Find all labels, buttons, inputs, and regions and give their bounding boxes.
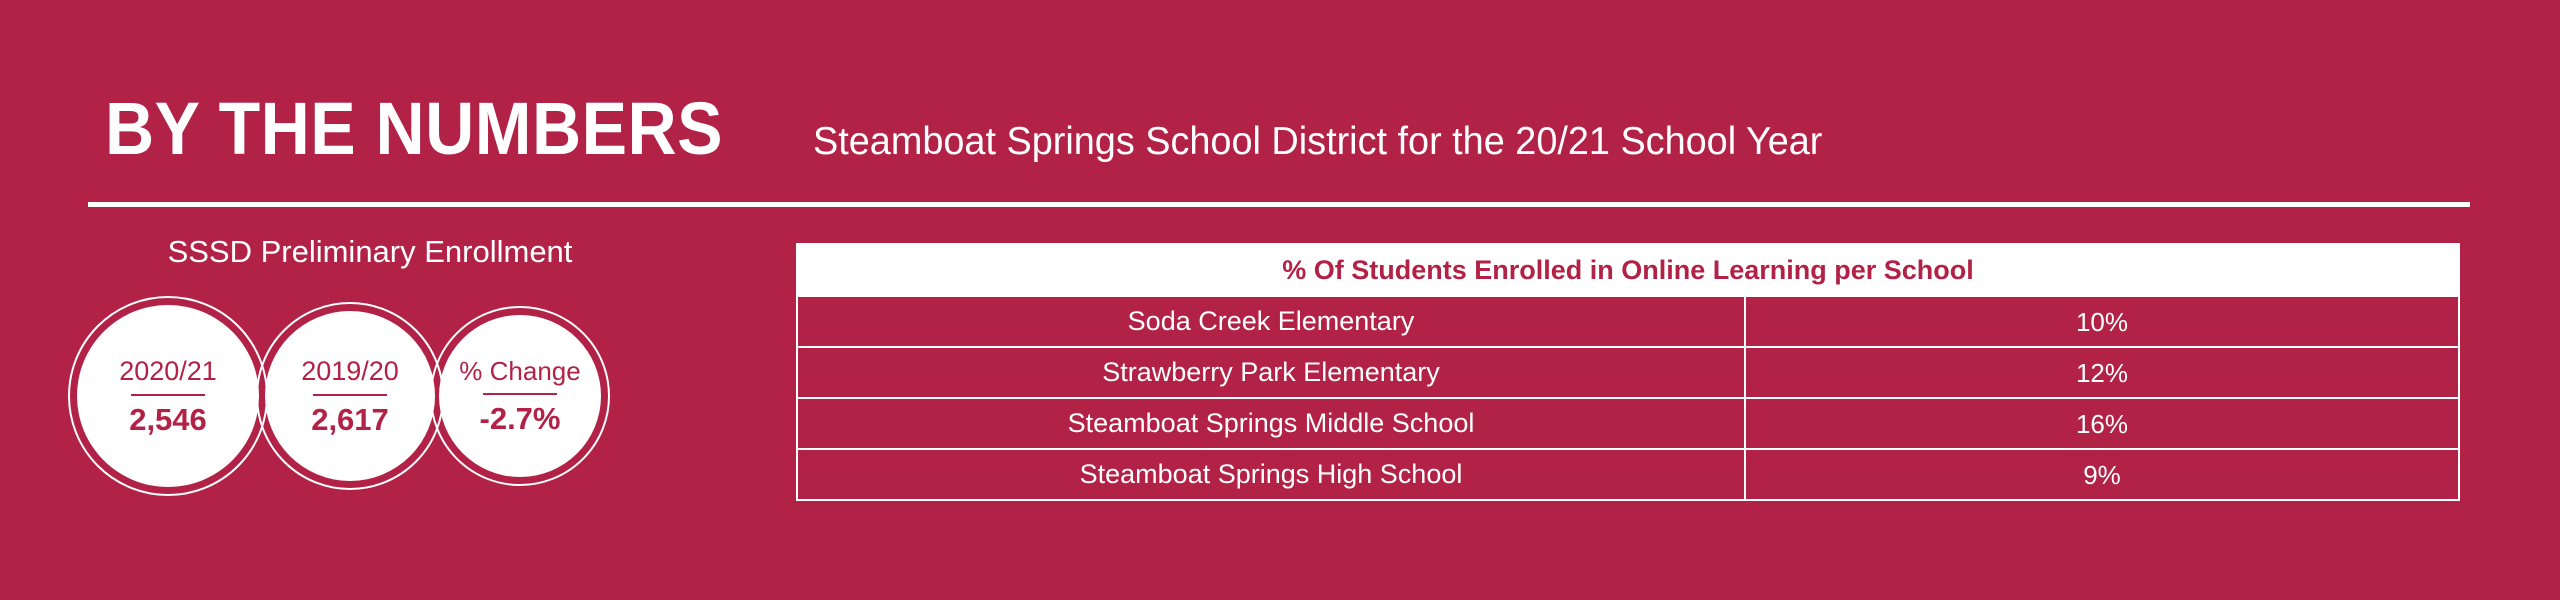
- table-row: Soda Creek Elementary 10%: [798, 295, 2458, 346]
- stat-label: % Change: [459, 358, 580, 384]
- table-cell-percent: 10%: [1746, 297, 2458, 346]
- table-header-text: % Of Students Enrolled in Online Learnin…: [1282, 257, 1974, 284]
- table-row: Steamboat Springs Middle School 16%: [798, 397, 2458, 448]
- online-learning-table: % Of Students Enrolled in Online Learnin…: [796, 243, 2460, 501]
- table-header: % Of Students Enrolled in Online Learnin…: [798, 245, 2458, 295]
- table-cell-school: Steamboat Springs Middle School: [798, 399, 1746, 448]
- enrollment-circles: 2020/21 2,546 2019/20 2,617 % Change -2.…: [60, 296, 760, 516]
- stat-separator: [313, 394, 387, 396]
- stat-circle-inner: 2020/21 2,546: [77, 305, 259, 487]
- stat-label: 2020/21: [119, 358, 217, 385]
- page-subtitle: Steamboat Springs School District for th…: [813, 122, 1822, 161]
- enrollment-section: SSSD Preliminary Enrollment 2020/21 2,54…: [60, 236, 760, 267]
- table-cell-school: Strawberry Park Elementary: [798, 348, 1746, 397]
- stat-circle-percent-change: % Change -2.7%: [430, 306, 610, 486]
- page-title: BY THE NUMBERS: [105, 92, 723, 166]
- table-cell-school: Soda Creek Elementary: [798, 297, 1746, 346]
- stat-value: 2,617: [311, 404, 389, 435]
- stat-separator: [131, 394, 205, 396]
- table-cell-percent: 9%: [1746, 450, 2458, 499]
- stat-circle-inner: 2019/20 2,617: [265, 311, 435, 481]
- header-divider: [88, 202, 2470, 207]
- stat-circle-2019-20: 2019/20 2,617: [256, 302, 444, 490]
- table-cell-percent: 12%: [1746, 348, 2458, 397]
- stat-circle-inner: % Change -2.7%: [439, 315, 601, 477]
- stat-circle-2020-21: 2020/21 2,546: [68, 296, 268, 496]
- stat-separator: [483, 393, 557, 395]
- table-row: Steamboat Springs High School 9%: [798, 448, 2458, 499]
- stat-value: 2,546: [129, 404, 207, 435]
- header: BY THE NUMBERS Steamboat Springs School …: [105, 92, 1853, 166]
- table-row: Strawberry Park Elementary 12%: [798, 346, 2458, 397]
- enrollment-label: SSSD Preliminary Enrollment: [60, 236, 680, 267]
- stat-label: 2019/20: [301, 358, 399, 385]
- table-cell-percent: 16%: [1746, 399, 2458, 448]
- table-cell-school: Steamboat Springs High School: [798, 450, 1746, 499]
- stat-value: -2.7%: [480, 403, 561, 434]
